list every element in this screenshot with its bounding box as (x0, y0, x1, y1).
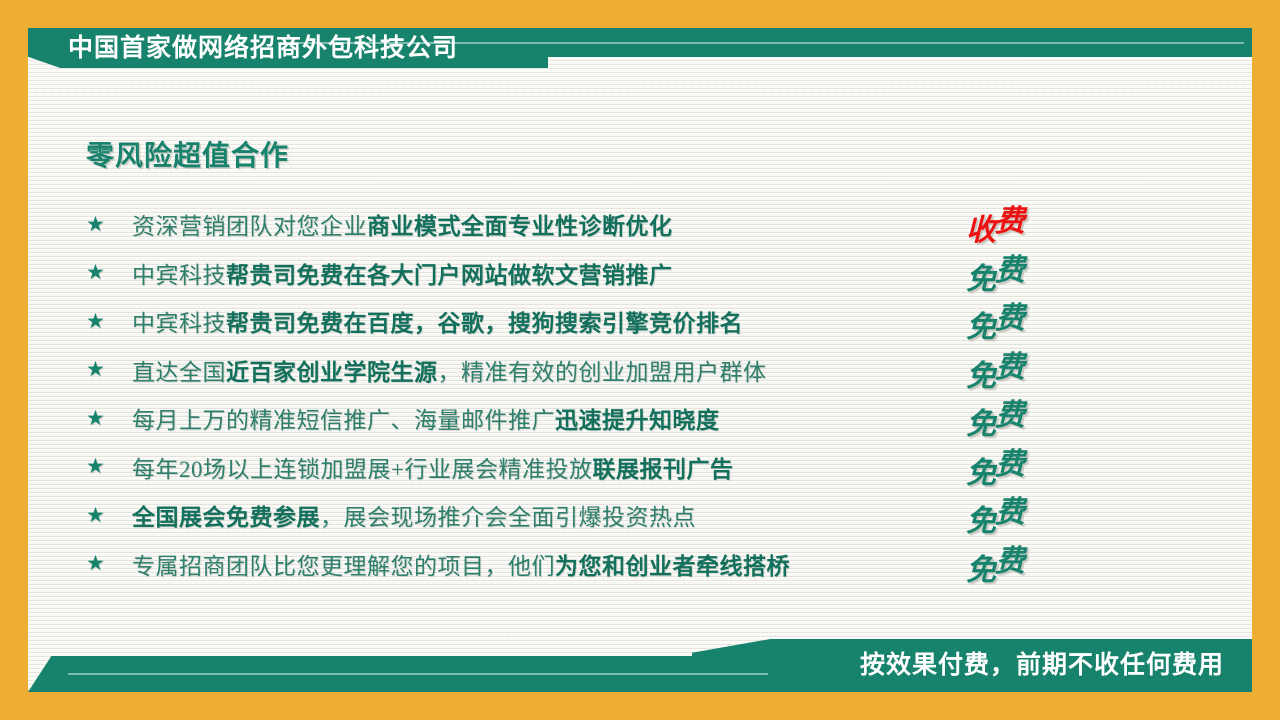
star-icon: ★ (86, 505, 132, 526)
star-icon: ★ (86, 553, 132, 574)
benefit-text-highlight: 全国展会免费参展 (132, 505, 320, 530)
benefit-text-plain-prefix: 每月上万的精准短信推广、海量邮件推广 (132, 408, 555, 433)
price-badge-char-2: 费 (995, 196, 1024, 240)
star-icon: ★ (86, 359, 132, 380)
benefit-text-plain-prefix: 专属招商团队比您更理解您的项目，他们 (132, 554, 555, 579)
star-icon: ★ (86, 456, 132, 477)
benefit-text-highlight: 近百家创业学院生源 (226, 360, 438, 385)
price-badge-char-1: 免 (966, 302, 995, 346)
benefit-text-plain-prefix: 直达全国 (132, 360, 226, 385)
benefits-list: ★资深营销团队对您企业商业模式全面专业性诊断优化收费★中宾科技帮贵司免费在各大门… (86, 200, 1126, 588)
benefit-text: 资深营销团队对您企业商业模式全面专业性诊断优化 (132, 207, 673, 241)
price-badge-char-1: 收 (966, 205, 995, 249)
price-badge: 免费 (966, 395, 1086, 439)
benefit-row: ★中宾科技帮贵司免费在各大门户网站做软文营销推广免费 (86, 249, 1126, 298)
price-badge: 免费 (966, 347, 1086, 391)
benefit-text-highlight: 帮贵司免费在百度，谷歌，搜狗搜索引擎竞价排名 (226, 311, 743, 336)
benefit-text-highlight: 迅速提升知晓度 (555, 408, 720, 433)
benefit-text-plain-prefix: 中宾科技 (132, 263, 226, 288)
price-badge-char-1: 免 (966, 496, 995, 540)
benefit-text-plain-prefix: 中宾科技 (132, 311, 226, 336)
price-badge: 收费 (966, 201, 1086, 245)
price-badge-char-1: 免 (966, 448, 995, 492)
price-badge: 免费 (966, 541, 1086, 585)
price-badge: 免费 (966, 492, 1086, 536)
benefit-text: 中宾科技帮贵司免费在百度，谷歌，搜狗搜索引擎竞价排名 (132, 304, 743, 338)
benefit-row: ★专属招商团队比您更理解您的项目，他们为您和创业者牵线搭桥免费 (86, 540, 1126, 589)
star-icon: ★ (86, 262, 132, 283)
star-icon: ★ (86, 214, 132, 235)
price-badge-char-1: 免 (966, 399, 995, 443)
price-badge-char-1: 免 (966, 351, 995, 395)
benefit-row: ★直达全国近百家创业学院生源，精准有效的创业加盟用户群体免费 (86, 346, 1126, 395)
price-badge-char-2: 费 (995, 487, 1024, 531)
price-badge-char-2: 费 (995, 439, 1024, 483)
benefit-row: ★中宾科技帮贵司免费在百度，谷歌，搜狗搜索引擎竞价排名免费 (86, 297, 1126, 346)
benefit-text-highlight: 帮贵司免费在各大门户网站做软文营销推广 (226, 263, 673, 288)
benefit-text: 每月上万的精准短信推广、海量邮件推广迅速提升知晓度 (132, 401, 720, 435)
price-badge: 免费 (966, 250, 1086, 294)
benefit-text-highlight: 为您和创业者牵线搭桥 (555, 554, 790, 579)
slide-root: 中国首家做网络招商外包科技公司 零风险超值合作 ★资深营销团队对您企业商业模式全… (0, 0, 1280, 720)
benefit-row: ★每月上万的精准短信推广、海量邮件推广迅速提升知晓度免费 (86, 394, 1126, 443)
benefit-text: 直达全国近百家创业学院生源，精准有效的创业加盟用户群体 (132, 353, 767, 387)
benefit-text-plain-prefix: 每年20场以上连锁加盟展+行业展会精准投放 (132, 457, 592, 482)
benefit-row: ★资深营销团队对您企业商业模式全面专业性诊断优化收费 (86, 200, 1126, 249)
star-icon: ★ (86, 311, 132, 332)
benefit-text-highlight: 商业模式全面专业性诊断优化 (367, 214, 673, 239)
benefit-row: ★每年20场以上连锁加盟展+行业展会精准投放联展报刊广告免费 (86, 443, 1126, 492)
star-icon: ★ (86, 408, 132, 429)
benefit-text: 每年20场以上连锁加盟展+行业展会精准投放联展报刊广告 (132, 450, 733, 484)
benefit-text-plain-suffix: ，展会现场推介会全面引爆投资热点 (320, 505, 696, 530)
price-badge-char-2: 费 (995, 293, 1024, 337)
price-badge: 免费 (966, 444, 1086, 488)
benefit-text: 全国展会免费参展，展会现场推介会全面引爆投资热点 (132, 498, 696, 532)
benefit-text-plain-prefix: 资深营销团队对您企业 (132, 214, 367, 239)
benefit-text: 专属招商团队比您更理解您的项目，他们为您和创业者牵线搭桥 (132, 547, 790, 581)
benefit-text: 中宾科技帮贵司免费在各大门户网站做软文营销推广 (132, 256, 673, 290)
price-badge-char-2: 费 (995, 245, 1024, 289)
page-title: 零风险超值合作 (86, 134, 289, 174)
price-badge-char-2: 费 (995, 390, 1024, 434)
benefit-row: ★全国展会免费参展，展会现场推介会全面引爆投资热点免费 (86, 491, 1126, 540)
price-badge-char-1: 免 (966, 254, 995, 298)
price-badge: 免费 (966, 298, 1086, 342)
benefit-text-highlight: 联展报刊广告 (592, 457, 733, 482)
price-badge-char-2: 费 (995, 536, 1024, 580)
price-badge-char-2: 费 (995, 342, 1024, 386)
price-badge-char-1: 免 (966, 545, 995, 589)
benefit-text-plain-suffix: ，精准有效的创业加盟用户群体 (438, 360, 767, 385)
